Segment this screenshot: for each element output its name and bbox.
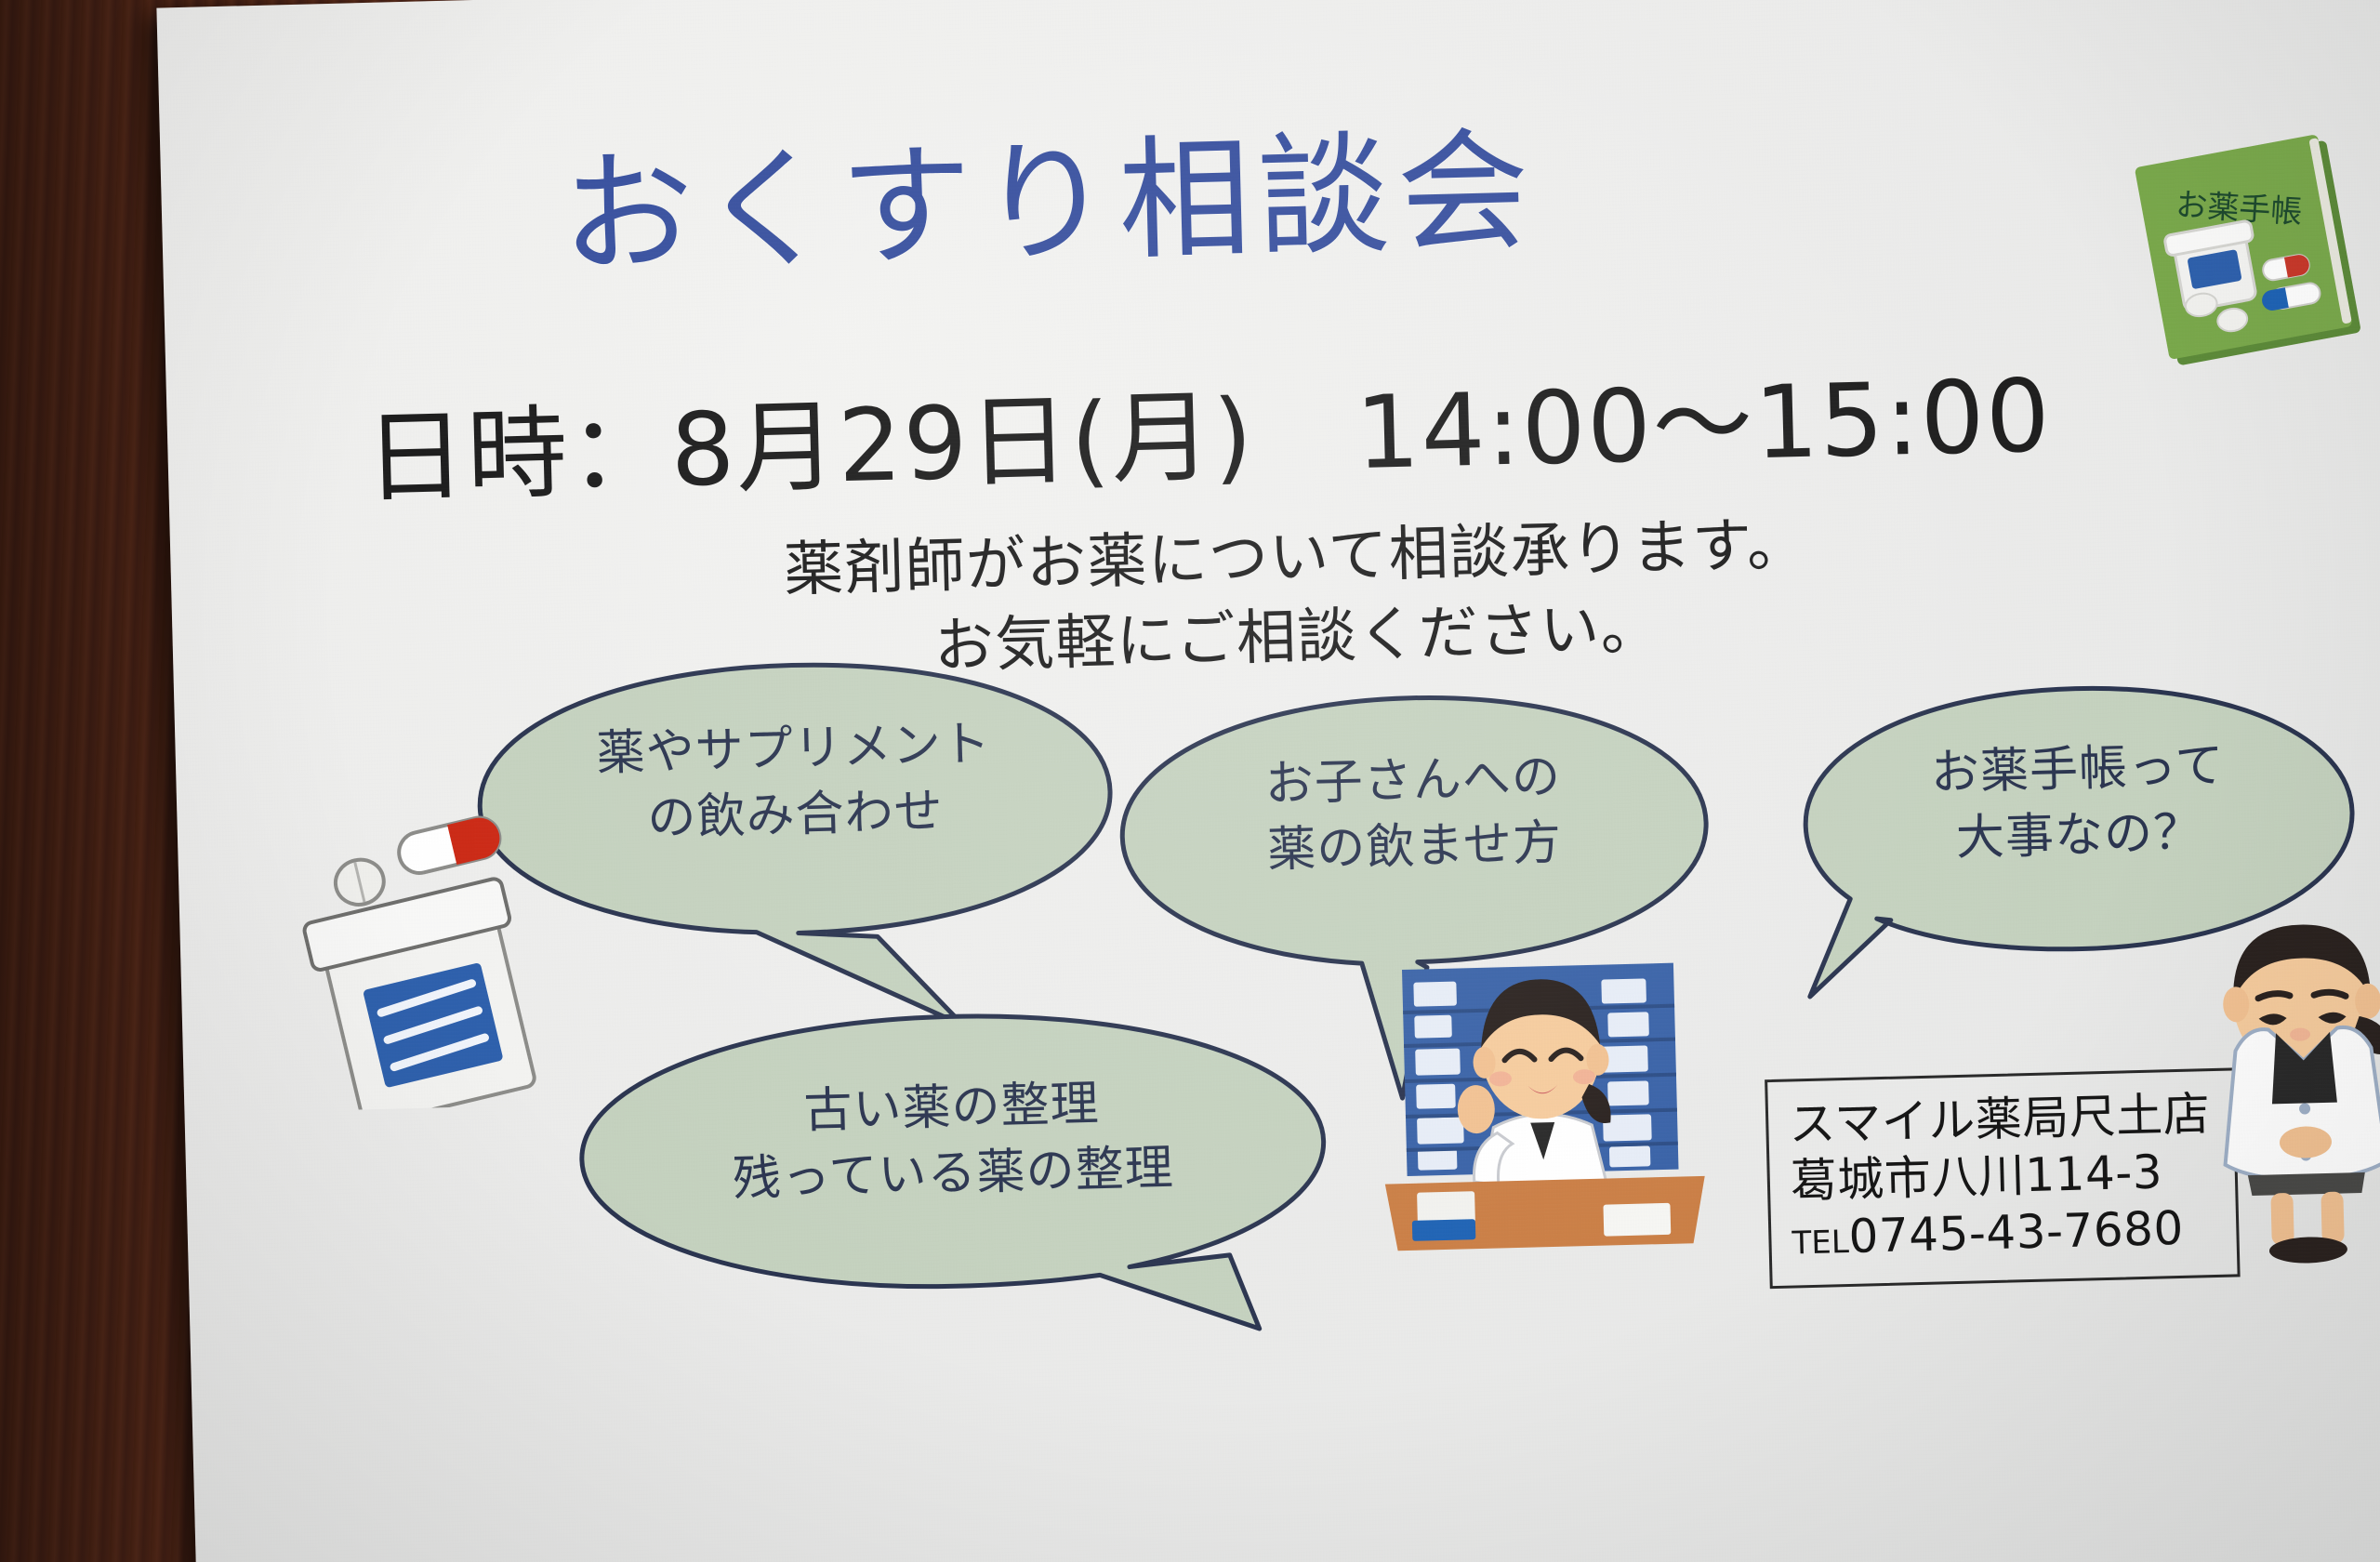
pharmacist-counter-icon xyxy=(1366,927,1718,1270)
poster-paper: おくすり相談会 日時：8月29日(月) 14:00〜15:00 薬剤師がお薬につ… xyxy=(156,0,2380,1562)
desk-blue-item xyxy=(1412,1219,1476,1241)
event-datetime: 日時：8月29日(月) 14:00〜15:00 xyxy=(364,358,2225,515)
bowing-pharmacist-icon xyxy=(2175,899,2380,1277)
leg-right xyxy=(2320,1192,2344,1245)
medicine-notebook-illustration: お薬手帳 xyxy=(2131,119,2380,377)
pill-bottle-icon xyxy=(288,807,575,1111)
notebook-icon: お薬手帳 xyxy=(2131,119,2380,377)
desk-background: おくすり相談会 日時：8月29日(月) 14:00〜15:00 薬剤師がお薬につ… xyxy=(0,0,2380,1562)
tel-label: TEL xyxy=(1792,1224,1849,1263)
speech-bubble-old-medicine: 古い薬の整理 残っている薬の整理 xyxy=(573,1001,1332,1299)
speech-bubble-children: お子さんへの 薬の飲ませ方 xyxy=(1114,685,1715,970)
pill-bottle-illustration xyxy=(288,807,575,1111)
tel-number: 0745-43-7680 xyxy=(1848,1201,2185,1264)
leg-left xyxy=(2270,1193,2294,1246)
pharmacy-telephone: TEL0745-43-7680 xyxy=(1792,1199,2220,1267)
desk-tray xyxy=(1603,1203,1671,1237)
page-title: おくすり相談会 xyxy=(560,110,2013,285)
speech-bubble-shape xyxy=(573,1001,1334,1355)
skirt xyxy=(2248,1172,2366,1196)
bowing-pharmacist-illustration xyxy=(2175,899,2380,1277)
pharmacist-at-counter-illustration xyxy=(1366,927,1718,1270)
desk-paper xyxy=(1417,1191,1475,1224)
pharmacy-address-box: スマイル薬局尺土店 葛城市八川114-3 TEL0745-43-7680 xyxy=(1765,1067,2241,1289)
